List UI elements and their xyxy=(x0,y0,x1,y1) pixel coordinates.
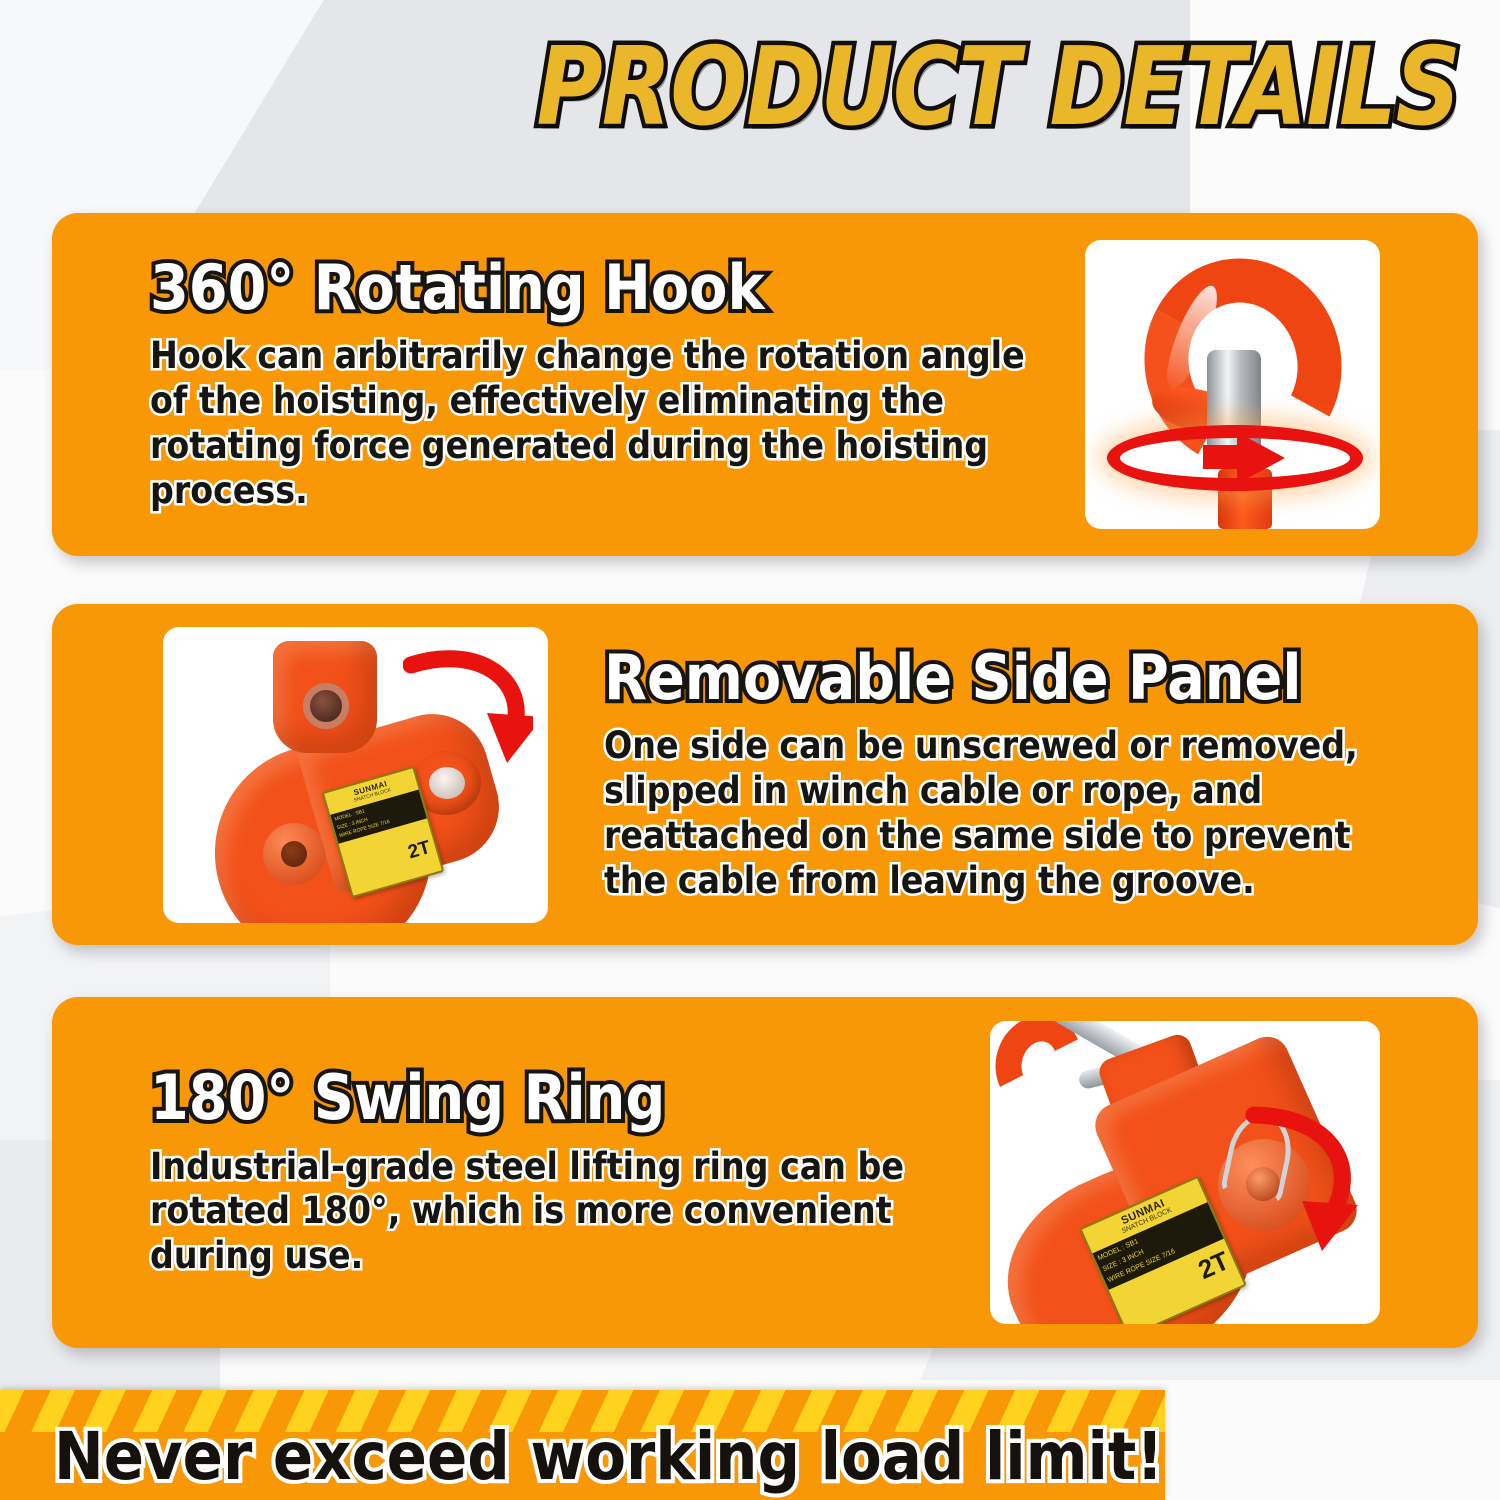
feature-card-swing-ring: 180° Swing Ring Industrial-grade steel l… xyxy=(52,997,1478,1348)
warning-text: Never exceed working load limit!!! xyxy=(54,1424,1165,1490)
feature-card-rotating-hook: 360° Rotating Hook Hook can arbitrarily … xyxy=(52,213,1478,556)
feature-heading: 180° Swing Ring xyxy=(150,1066,964,1130)
rotation-arrow-icon xyxy=(1236,1105,1366,1255)
feature-body: One side can be unscrewed or removed, sl… xyxy=(604,724,1418,903)
feature-card-removable-side-panel: SUNMAI SNATCH BLOCK MODEL : SB1 SIZE : 3… xyxy=(52,604,1478,945)
feature-card-text: Removable Side Panel One side can be uns… xyxy=(548,646,1478,904)
feature-body: Industrial-grade steel lifting ring can … xyxy=(150,1145,964,1279)
rotation-arrow-icon xyxy=(403,647,533,767)
feature-body: Hook can arbitrarily change the rotation… xyxy=(150,334,1059,513)
pulley-eye-hole-icon xyxy=(429,767,465,799)
feature-heading: Removable Side Panel xyxy=(604,646,1418,710)
product-image-snatch-block: SUNMAI SNATCH BLOCK MODEL : SB1 SIZE : 3… xyxy=(163,627,548,923)
feature-heading: 360° Rotating Hook xyxy=(150,256,1059,320)
feature-card-text: 360° Rotating Hook Hook can arbitrarily … xyxy=(52,256,1085,514)
hook-shape xyxy=(990,1021,1095,1122)
warning-banner: Never exceed working load limit!!! xyxy=(0,1390,1165,1500)
spec-plate-capacity: 2T xyxy=(406,837,433,864)
rotation-arrow-icon xyxy=(1237,432,1285,484)
page-title: PRODUCT DETAILS xyxy=(537,34,1460,142)
spec-plate-capacity: 2T xyxy=(1194,1245,1234,1286)
pulley-center-bolt-head-icon xyxy=(281,841,307,867)
swivel-bearing-icon xyxy=(303,683,349,729)
feature-card-text: 180° Swing Ring Industrial-grade steel l… xyxy=(52,1066,990,1279)
product-image-rotating-hook xyxy=(1085,240,1380,529)
product-image-swing-ring: SUNMAI SNATCH BLOCK MODEL : SB1 SIZE : 3… xyxy=(990,1021,1380,1324)
